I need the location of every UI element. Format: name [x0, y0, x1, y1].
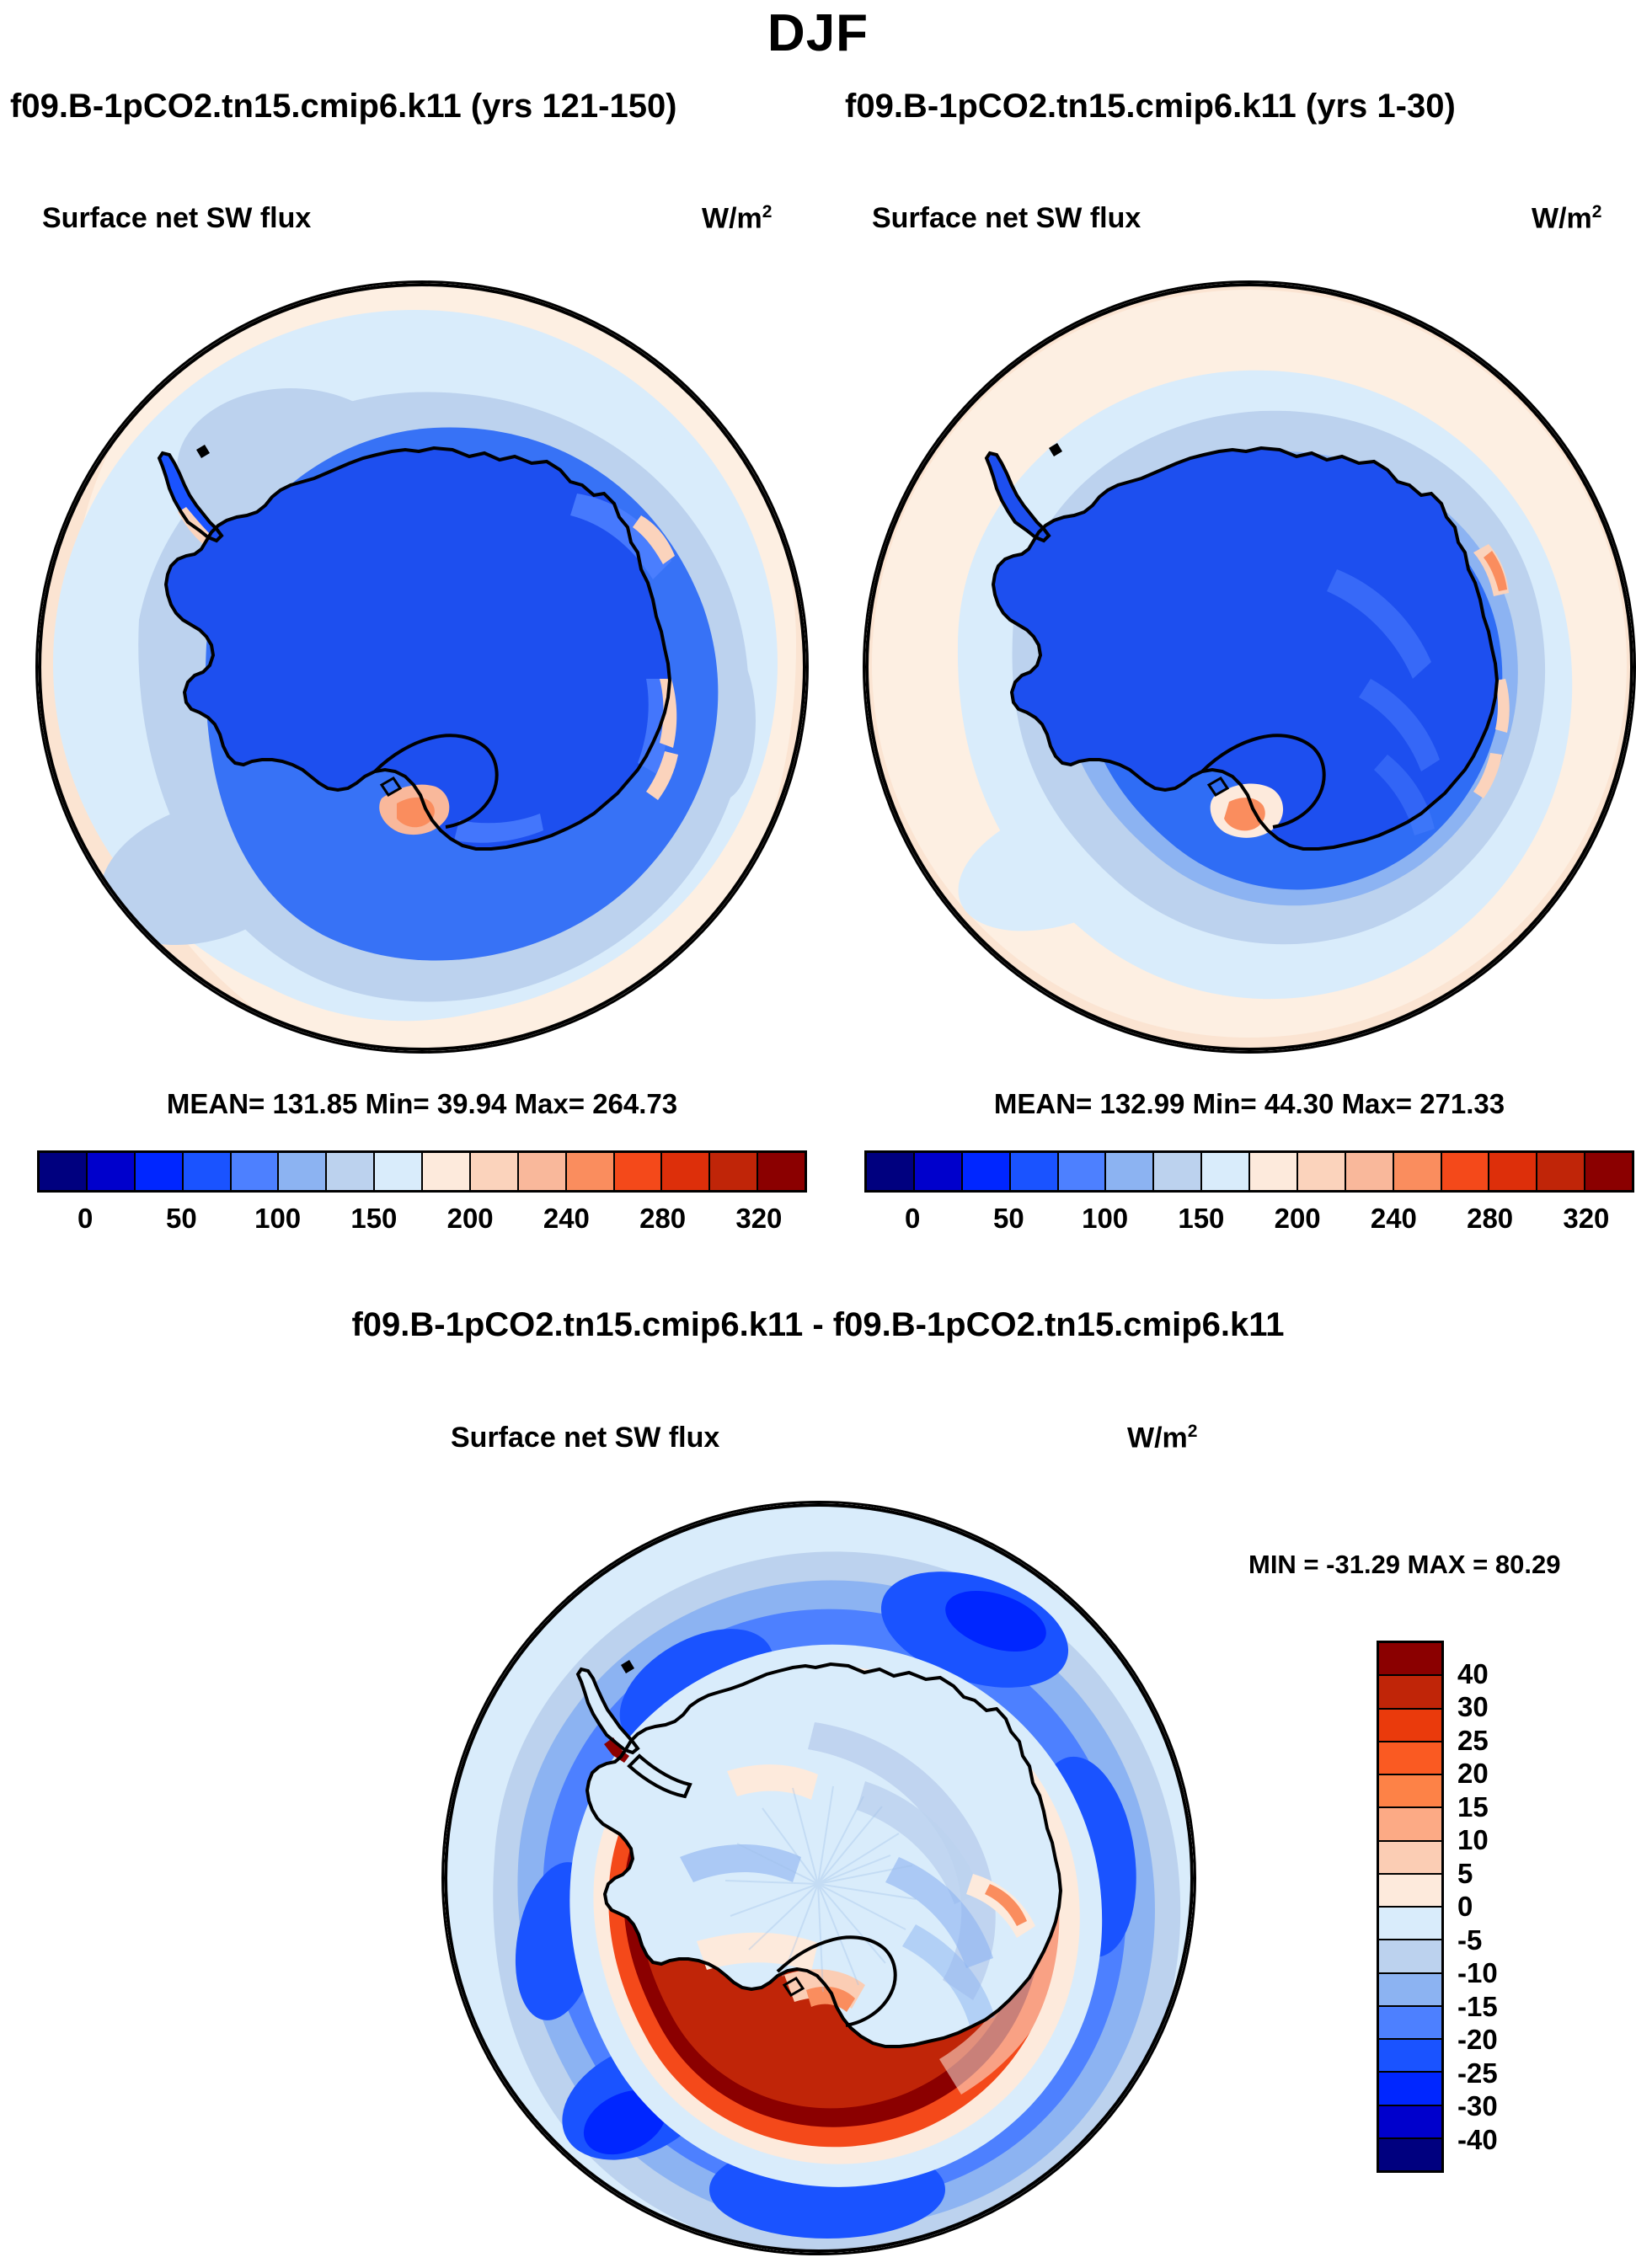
- colorbar-cell: [1298, 1153, 1346, 1190]
- case-title-right: f09.B-1pCO2.tn15.cmip6.k11 (yrs 1-30): [845, 88, 1456, 125]
- colorbar-cell: [375, 1153, 423, 1190]
- panel-units-right: W/m2: [1532, 202, 1601, 235]
- colorbar-cell: [1379, 1842, 1441, 1875]
- panel-variable-diff: Surface net SW flux: [451, 1422, 719, 1454]
- map-diff-svg: [444, 1503, 1194, 2253]
- colorbar-tick-label: 100: [1082, 1203, 1128, 1235]
- colorbar-cell: [423, 1153, 471, 1190]
- colorbar-cell: [1346, 1153, 1394, 1190]
- colorbar-cell: [963, 1153, 1011, 1190]
- colorbar-cell: [184, 1153, 232, 1190]
- colorbar-cell: [1379, 2073, 1441, 2105]
- panel-variable-right: Surface net SW flux: [872, 202, 1141, 235]
- colorbar-tick-label: 10: [1457, 1824, 1489, 1856]
- colorbar-tick-label: 25: [1457, 1725, 1489, 1757]
- colorbar-tick-label: 150: [350, 1203, 397, 1235]
- colorbar-right[interactable]: [864, 1150, 1634, 1193]
- colorbar-cell: [867, 1153, 915, 1190]
- colorbar-cell: [1379, 1643, 1441, 1676]
- colorbar-cell: [1379, 2139, 1441, 2170]
- map-left[interactable]: [35, 280, 809, 1054]
- colorbar-cell: [1379, 2007, 1441, 2040]
- case-title-left: f09.B-1pCO2.tn15.cmip6.k11 (yrs 121-150): [10, 88, 677, 125]
- colorbar-cell: [232, 1153, 280, 1190]
- colorbar-tick-label: 200: [447, 1203, 494, 1235]
- map-right-svg: [865, 283, 1633, 1051]
- colorbar-tick-label: -25: [1457, 2057, 1498, 2089]
- colorbar-cell: [1379, 1974, 1441, 2007]
- colorbar-cell: [1379, 1676, 1441, 1709]
- colorbar-cell: [1379, 1908, 1441, 1940]
- colorbar-tick-label: -10: [1457, 1957, 1498, 1989]
- colorbar-cell: [1585, 1153, 1632, 1190]
- diff-case-title: f09.B-1pCO2.tn15.cmip6.k11 - f09.B-1pCO2…: [0, 1306, 1636, 1344]
- colorbar-cell: [136, 1153, 184, 1190]
- units-exponent-diff: 2: [1188, 1422, 1198, 1441]
- colorbar-tick-label: 100: [254, 1203, 301, 1235]
- colorbar-tick-label: 5: [1457, 1858, 1473, 1890]
- colorbar-tick-label: 20: [1457, 1758, 1489, 1790]
- colorbar-ticks-left: 050100150200240280320: [37, 1203, 807, 1241]
- map-left-svg: [38, 283, 806, 1051]
- colorbar-tick-label: -30: [1457, 2090, 1498, 2122]
- stats-left: MEAN= 131.85 Min= 39.94 Max= 264.73: [35, 1088, 809, 1120]
- colorbar-tick-label: 240: [1371, 1203, 1417, 1235]
- colorbar-tick-label: 0: [905, 1203, 920, 1235]
- colorbar-tick-label: 15: [1457, 1791, 1489, 1823]
- colorbar-cell: [279, 1153, 327, 1190]
- colorbar-cell: [1379, 2040, 1441, 2073]
- colorbar-tick-label: -15: [1457, 1991, 1498, 2023]
- colorbar-cell: [915, 1153, 963, 1190]
- colorbar-tick-label: 50: [993, 1203, 1024, 1235]
- season-title: DJF: [0, 3, 1636, 63]
- panel-units-left: W/m2: [702, 202, 772, 235]
- colorbar-tick-label: 50: [166, 1203, 197, 1235]
- colorbar-difference-ticks: 40302520151050-5-10-15-20-25-30-40: [1457, 1641, 1609, 2173]
- colorbar-cell: [758, 1153, 805, 1190]
- colorbar-tick-label: -5: [1457, 1924, 1482, 1956]
- colorbar-cell: [567, 1153, 615, 1190]
- colorbar-cell: [1250, 1153, 1298, 1190]
- colorbar-tick-label: 280: [639, 1203, 686, 1235]
- colorbar-cell: [88, 1153, 136, 1190]
- colorbar-cell: [1059, 1153, 1107, 1190]
- colorbar-tick-label: 240: [543, 1203, 590, 1235]
- colorbar-tick-label: 0: [78, 1203, 93, 1235]
- colorbar-tick-label: 200: [1275, 1203, 1321, 1235]
- colorbar-cell: [1202, 1153, 1250, 1190]
- colorbar-cell: [1379, 1742, 1441, 1775]
- colorbar-cell: [327, 1153, 375, 1190]
- colorbar-tick-label: 280: [1467, 1203, 1513, 1235]
- colorbar-tick-label: 320: [1563, 1203, 1609, 1235]
- colorbar-cell: [1011, 1153, 1059, 1190]
- map-right[interactable]: [863, 280, 1636, 1054]
- panel-variable-left: Surface net SW flux: [42, 202, 311, 235]
- units-text-left: W/m: [702, 202, 762, 234]
- colorbar-cell: [1379, 1710, 1441, 1742]
- colorbar-cell: [519, 1153, 567, 1190]
- colorbar-cell: [1106, 1153, 1154, 1190]
- colorbar-cell: [1537, 1153, 1585, 1190]
- colorbar-cell: [1442, 1153, 1490, 1190]
- colorbar-cell: [1379, 1808, 1441, 1841]
- map-difference[interactable]: [441, 1501, 1196, 2255]
- colorbar-tick-label: 30: [1457, 1691, 1489, 1723]
- colorbar-tick-label: 40: [1457, 1658, 1489, 1690]
- colorbar-cell: [1489, 1153, 1537, 1190]
- colorbar-cell: [1379, 1875, 1441, 1908]
- colorbar-tick-label: -20: [1457, 2024, 1498, 2056]
- units-text-diff: W/m: [1127, 1422, 1188, 1454]
- colorbar-tick-label: 0: [1457, 1891, 1473, 1923]
- colorbar-cell: [662, 1153, 710, 1190]
- stats-right: MEAN= 132.99 Min= 44.30 Max= 271.33: [863, 1088, 1636, 1120]
- colorbar-cell: [471, 1153, 519, 1190]
- colorbar-tick-label: 320: [735, 1203, 782, 1235]
- colorbar-cell: [710, 1153, 758, 1190]
- colorbar-difference[interactable]: [1377, 1641, 1444, 2173]
- colorbar-cell: [40, 1153, 88, 1190]
- colorbar-ticks-right: 050100150200240280320: [864, 1203, 1634, 1241]
- colorbar-cell: [1379, 2106, 1441, 2139]
- colorbar-cell: [1154, 1153, 1202, 1190]
- colorbar-cell: [1394, 1153, 1442, 1190]
- units-text-right: W/m: [1532, 202, 1592, 234]
- panel-units-diff: W/m2: [1127, 1422, 1197, 1454]
- colorbar-cell: [1379, 1940, 1441, 1973]
- colorbar-cell: [615, 1153, 663, 1190]
- units-exponent-left: 2: [762, 202, 773, 221]
- units-exponent-right: 2: [1592, 202, 1602, 221]
- colorbar-tick-label: 150: [1178, 1203, 1224, 1235]
- colorbar-cell: [1379, 1775, 1441, 1808]
- colorbar-tick-label: -40: [1457, 2124, 1498, 2156]
- diff-minmax-label: MIN = -31.29 MAX = 80.29: [1248, 1550, 1560, 1580]
- colorbar-left[interactable]: [37, 1150, 807, 1193]
